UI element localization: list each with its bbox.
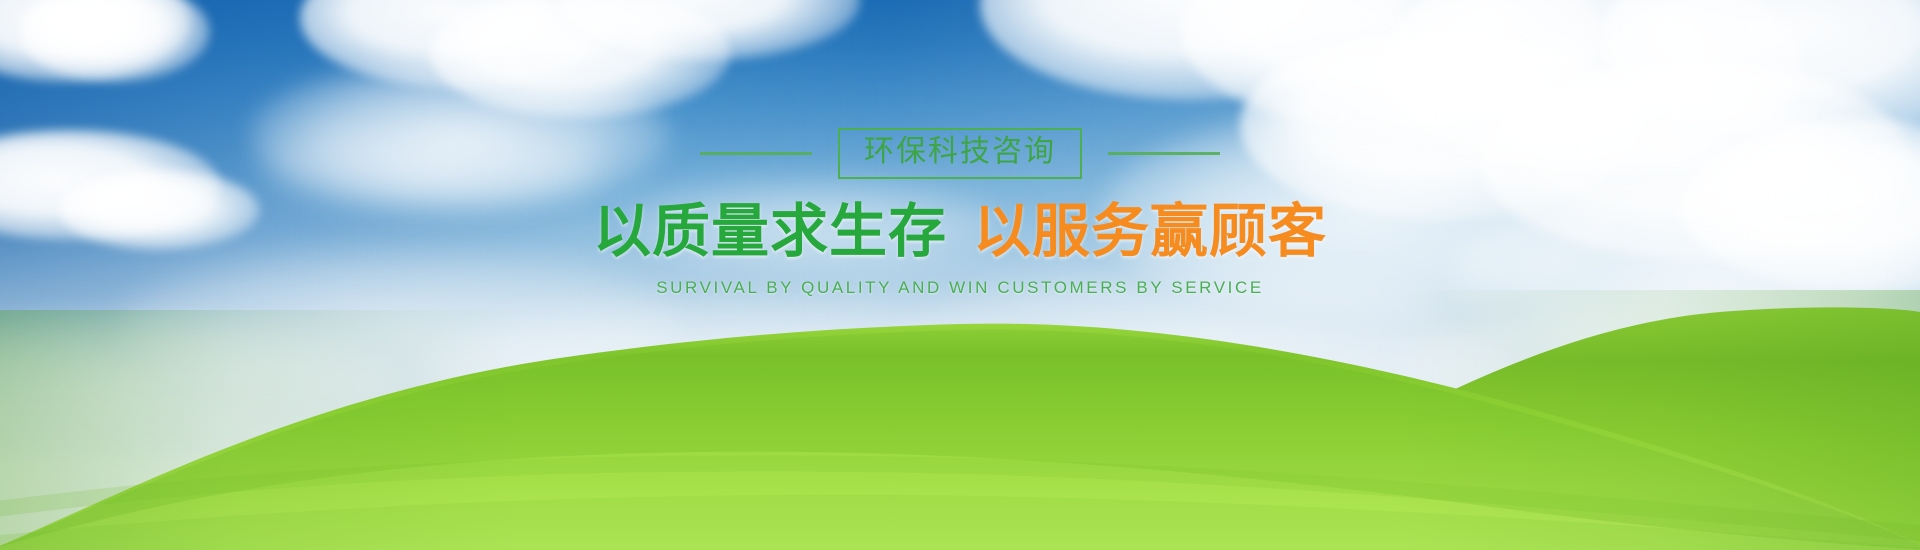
eyebrow-row: 环保科技咨询 xyxy=(700,128,1220,179)
hill-shade-left xyxy=(0,310,520,550)
subheadline: SURVIVAL BY QUALITY AND WIN CUSTOMERS BY… xyxy=(656,278,1264,298)
hero-banner: 环保科技咨询 以质量求生存以服务赢顾客 SURVIVAL BY QUALITY … xyxy=(0,0,1920,550)
rule-right-icon xyxy=(1108,152,1220,155)
banner-copy: 环保科技咨询 以质量求生存以服务赢顾客 SURVIVAL BY QUALITY … xyxy=(0,128,1920,298)
headline-green: 以质量求生存 xyxy=(593,197,947,265)
eyebrow-label: 环保科技咨询 xyxy=(864,137,1056,167)
headline: 以质量求生存以服务赢顾客 xyxy=(593,201,1327,262)
hill-shade-right xyxy=(1400,290,1920,550)
headline-orange: 以服务赢顾客 xyxy=(973,197,1327,265)
eyebrow-box: 环保科技咨询 xyxy=(838,128,1082,179)
rule-left-icon xyxy=(700,152,812,155)
